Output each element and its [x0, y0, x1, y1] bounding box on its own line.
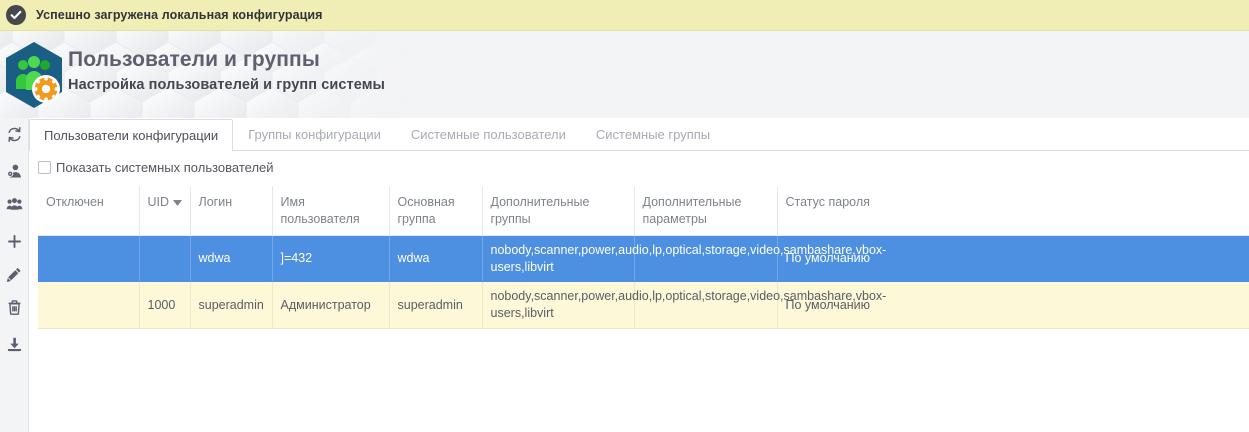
- content-area: Пользователи конфигурации Группы конфигу…: [29, 118, 1249, 432]
- tab-label: Группы конфигурации: [248, 127, 381, 142]
- edit-icon[interactable]: [0, 258, 29, 291]
- sort-desc-icon: [173, 194, 182, 211]
- add-icon[interactable]: [0, 225, 29, 258]
- import-icon[interactable]: [0, 328, 29, 361]
- tab-system-users[interactable]: Системные пользователи: [396, 118, 581, 150]
- hexagon-pattern: [0, 31, 450, 118]
- column-label: Дополнительные группы: [491, 195, 590, 226]
- column-label: Имя пользователя: [281, 195, 360, 226]
- tab-bar: Пользователи конфигурации Группы конфигу…: [29, 118, 1249, 151]
- cell-uid: [139, 236, 190, 282]
- tab-config-groups[interactable]: Группы конфигурации: [233, 118, 396, 150]
- page-title: Пользователи и группы: [68, 48, 320, 72]
- column-label: UID: [148, 195, 170, 209]
- column-label: Статус пароля: [786, 195, 870, 209]
- tab-label: Пользователи конфигурации: [44, 128, 218, 143]
- cell-primary-group: superadmin: [389, 282, 482, 328]
- column-label: Дополнительные параметры: [643, 195, 742, 226]
- left-toolbar: [0, 118, 29, 432]
- cell-extra-groups: nobody,scanner,power,audio,lp,optical,st…: [482, 282, 634, 328]
- users-table: Отключен UID Логин Имя пользователя Осно…: [38, 186, 1249, 329]
- tab-config-users[interactable]: Пользователи конфигурации: [29, 119, 233, 151]
- show-system-users-label: Показать системных пользователей: [56, 160, 274, 175]
- tab-label: Системные группы: [596, 127, 710, 142]
- column-header-disabled[interactable]: Отключен: [38, 186, 139, 236]
- column-header-extra-groups[interactable]: Дополнительные группы: [482, 186, 634, 236]
- table-row[interactable]: 1000 superadmin Администратор superadmin…: [38, 282, 1249, 328]
- cell-disabled: [38, 236, 139, 282]
- column-header-username[interactable]: Имя пользователя: [272, 186, 389, 236]
- column-label: Отключен: [46, 195, 104, 209]
- column-header-uid[interactable]: UID: [139, 186, 190, 236]
- users-groups-gear-logo: [3, 41, 65, 109]
- cell-username: ]=432: [272, 236, 389, 282]
- table-row[interactable]: wdwa ]=432 wdwa nobody,scanner,power,aud…: [38, 236, 1249, 282]
- cell-primary-group: wdwa: [389, 236, 482, 282]
- show-system-users-checkbox[interactable]: [38, 161, 51, 174]
- show-system-users-row: Показать системных пользователей: [29, 151, 1249, 184]
- column-header-password-status[interactable]: Статус пароля: [777, 186, 1249, 236]
- delete-icon[interactable]: [0, 291, 29, 324]
- page-banner: Пользователи и группы Настройка пользова…: [0, 31, 1249, 118]
- refresh-icon[interactable]: [0, 118, 29, 151]
- cell-login: wdwa: [190, 236, 272, 282]
- tab-label: Системные пользователи: [411, 127, 566, 142]
- column-label: Логин: [199, 195, 233, 209]
- cell-uid: 1000: [139, 282, 190, 328]
- notification-message: Успешно загружена локальная конфигурация: [36, 8, 323, 22]
- column-label: Основная группа: [398, 195, 455, 226]
- cell-login: superadmin: [190, 282, 272, 328]
- column-header-primary-group[interactable]: Основная группа: [389, 186, 482, 236]
- notification-bar: Успешно загружена локальная конфигурация: [0, 0, 1249, 31]
- cell-disabled: [38, 282, 139, 328]
- check-circle-icon: [6, 5, 26, 25]
- column-header-login[interactable]: Логин: [190, 186, 272, 236]
- page-subtitle: Настройка пользователей и групп системы: [68, 77, 385, 93]
- cell-username: Администратор: [272, 282, 389, 328]
- tab-system-groups[interactable]: Системные группы: [581, 118, 725, 150]
- group-icon[interactable]: [0, 188, 29, 221]
- users-table-container: Отключен UID Логин Имя пользователя Осно…: [38, 186, 1249, 432]
- table-header-row: Отключен UID Логин Имя пользователя Осно…: [38, 186, 1249, 236]
- user-settings-icon[interactable]: [0, 155, 29, 188]
- cell-extra-groups: nobody,scanner,power,audio,lp,optical,st…: [482, 236, 634, 282]
- column-header-extra-params[interactable]: Дополнительные параметры: [634, 186, 777, 236]
- users-and-groups-window: Успешно загружена локальная конфигурация: [0, 0, 1249, 432]
